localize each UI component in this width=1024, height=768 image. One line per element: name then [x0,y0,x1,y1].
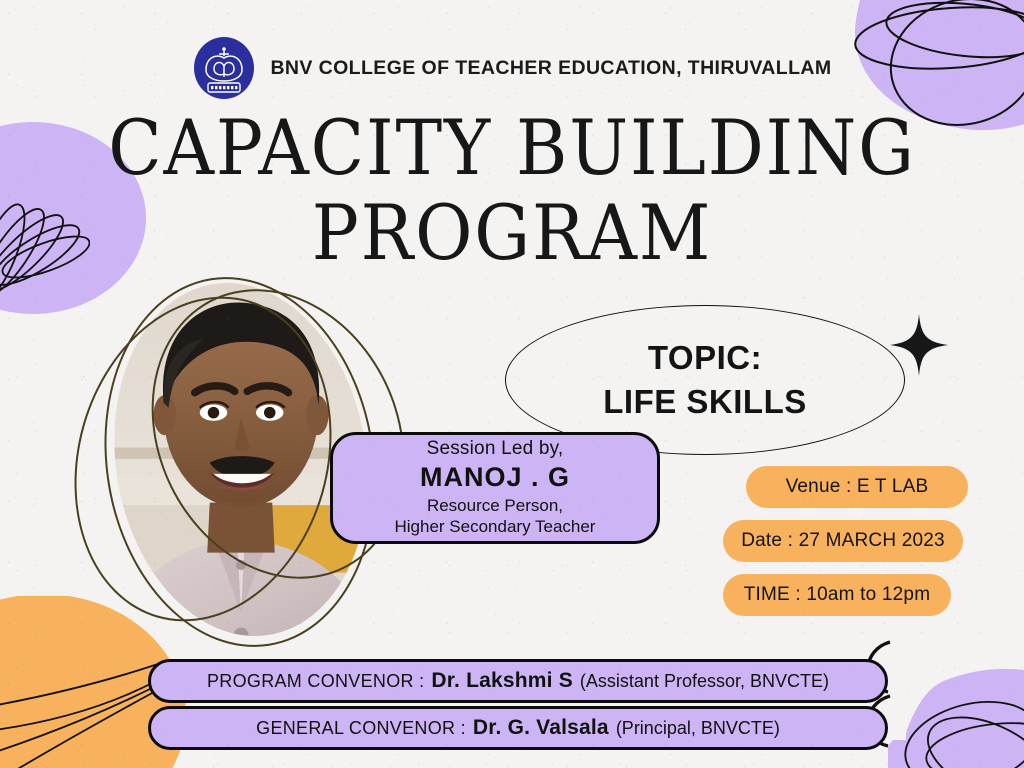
session-led-by-label: Session Led by, [427,438,564,460]
program-convenor-bar: PROGRAM CONVENOR : Dr. Lakshmi S (Assist… [148,659,888,703]
title-line-1: CAPACITY BUILDING [41,112,983,185]
general-convenor-label: GENERAL CONVENOR : [256,718,466,739]
speaker-role-line-1: Resource Person, [427,496,563,517]
decoration-bottom-right-blob [888,740,1024,768]
general-convenor-note: (Principal, BNVCTE) [616,718,780,739]
time-pill: TIME : 10am to 12pm [723,574,951,616]
decoration-bottom-right-scribble [900,686,1024,768]
program-convenor-label: PROGRAM CONVENOR : [207,671,424,692]
program-convenor-note: (Assistant Professor, BNVCTE) [580,671,829,692]
poster-canvas: BNV COLLEGE OF TEACHER EDUCATION, THIRUV… [0,0,1024,768]
general-convenor-bar: GENERAL CONVENOR : Dr. G. Valsala (Princ… [148,706,888,750]
speaker-role-line-2: Higher Secondary Teacher [395,517,596,538]
college-crest-icon [192,36,256,100]
topic-value: LIFE SKILLS [603,383,807,421]
four-point-star-icon [888,313,950,377]
general-convenor-name: Dr. G. Valsala [473,716,609,740]
topic-label: TOPIC: [648,339,762,377]
title-line-2: PROGRAM [41,197,983,270]
event-details-list: Venue : E T LAB Date : 27 MARCH 2023 TIM… [718,466,978,628]
decoration-bottom-right-purple-blob [906,662,1024,768]
page-title: CAPACITY BUILDING PROGRAM [0,112,1024,270]
speaker-name: MANOJ . G [420,462,570,493]
venue-pill: Venue : E T LAB [746,466,968,508]
college-name: BNV COLLEGE OF TEACHER EDUCATION, THIRUV… [270,57,831,80]
poster-header: BNV COLLEGE OF TEACHER EDUCATION, THIRUV… [0,36,1024,100]
program-convenor-name: Dr. Lakshmi S [431,669,573,693]
session-speaker-card: Session Led by, MANOJ . G Resource Perso… [330,432,660,544]
date-pill: Date : 27 MARCH 2023 [723,520,963,562]
